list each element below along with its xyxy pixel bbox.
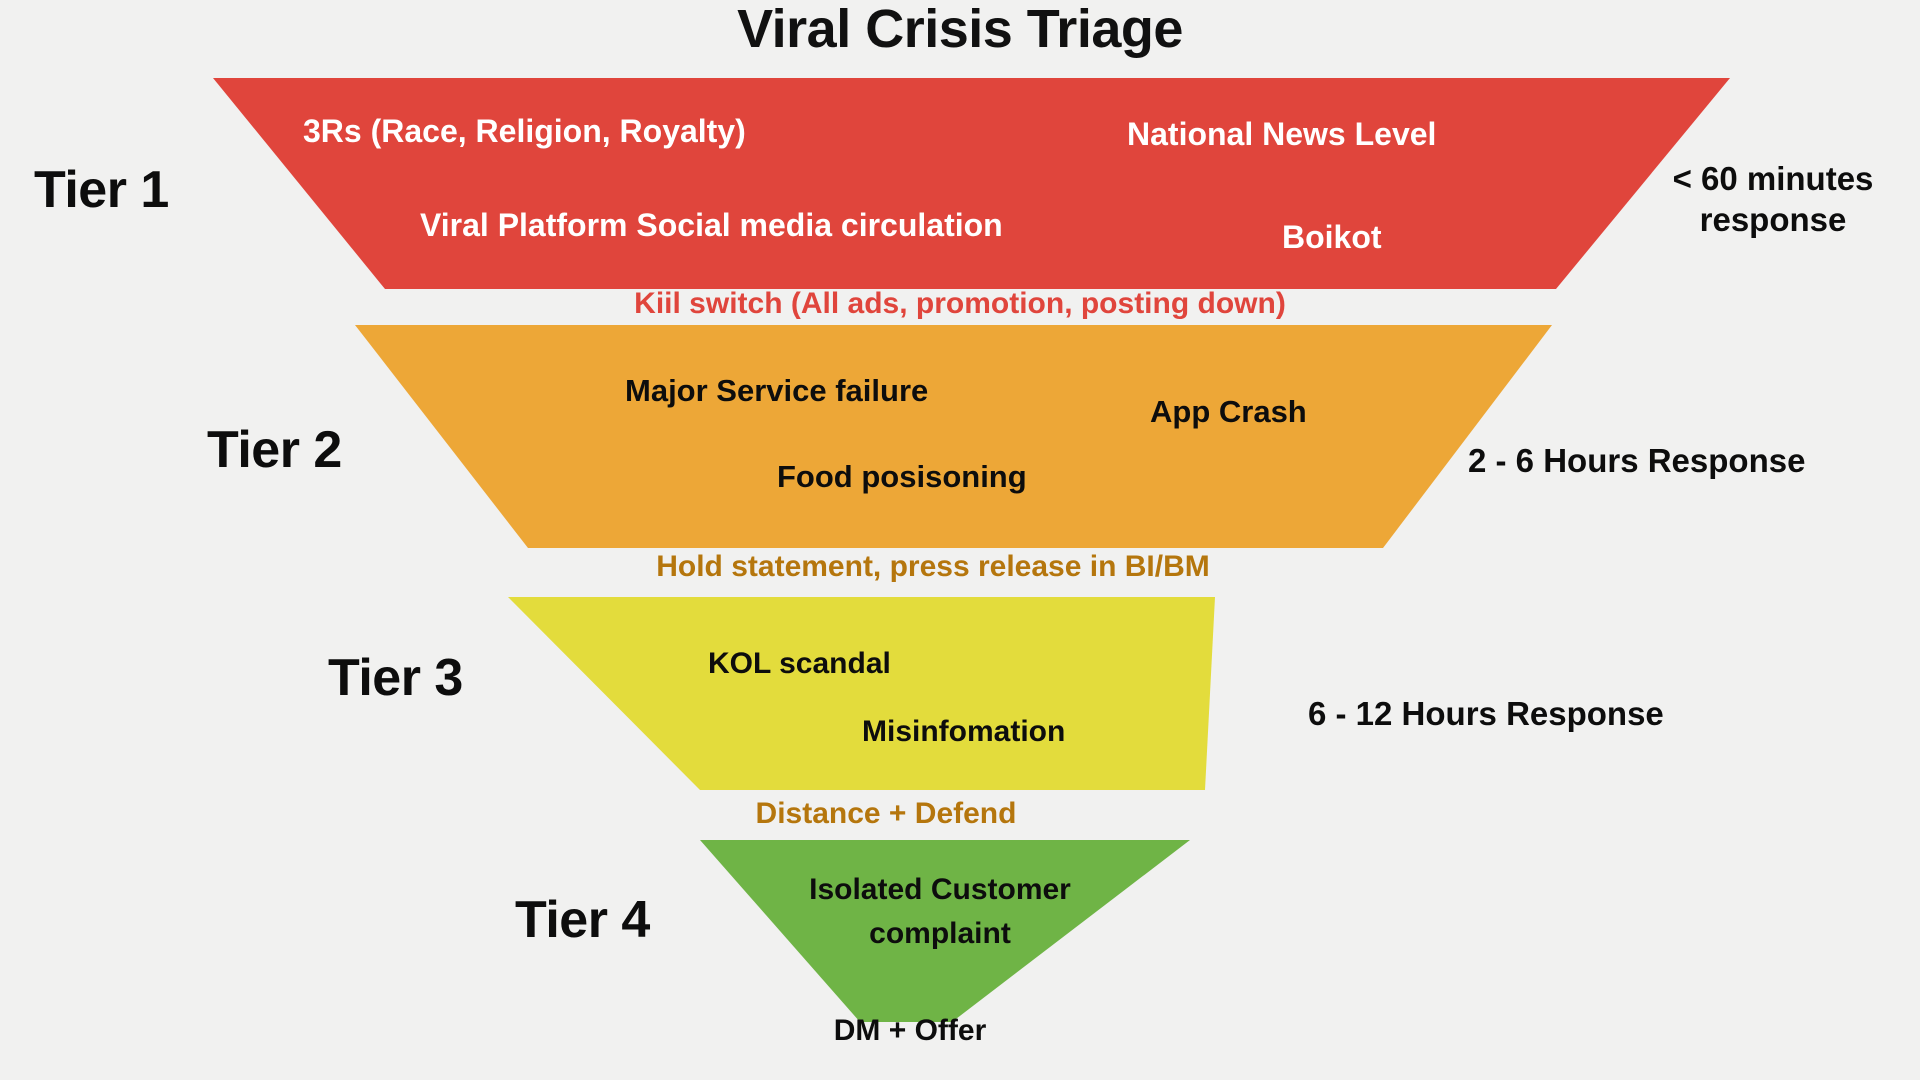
tier-1-item-3rs: 3Rs (Race, Religion, Royalty) — [303, 112, 746, 150]
tier-1-item-boikot: Boikot — [1282, 218, 1382, 256]
tier-2-item-app-crash: App Crash — [1150, 393, 1307, 430]
tier-1-label: Tier 1 — [34, 160, 169, 220]
tier-2-label: Tier 2 — [207, 420, 342, 480]
tier-3-sla-label: 6 - 12 Hours Response — [1308, 693, 1664, 734]
tier-4-action-dm-offer: DM + Offer — [0, 1014, 1820, 1048]
tier-3-action-distance-defend: Distance + Defend — [0, 797, 1772, 831]
tier-1-item-national-news: National News Level — [1127, 115, 1436, 153]
tier-4-label: Tier 4 — [515, 890, 650, 950]
tier-3-item-misinformation: Misinfomation — [862, 714, 1065, 750]
tier1-shape — [213, 78, 1730, 289]
tier-2-item-service-failure: Major Service failure — [625, 372, 928, 409]
tier-1-action-kill-switch: Kiil switch (All ads, promotion, posting… — [0, 287, 1920, 321]
tier-2-item-food-poisoning: Food posisoning — [777, 458, 1027, 495]
tier-2-action-hold-statement: Hold statement, press release in BI/BM — [0, 550, 1866, 584]
tier-3-item-kol-scandal: KOL scandal — [708, 646, 891, 682]
tier2-shape — [355, 325, 1552, 548]
diagram-canvas: Viral Crisis Triage Tier 1 3Rs (Race, Re… — [0, 0, 1920, 1080]
tier-2-sla-label: 2 - 6 Hours Response — [1468, 440, 1805, 481]
tier3-shape — [508, 597, 1215, 790]
page-title: Viral Crisis Triage — [0, 0, 1920, 60]
tier-1-item-viral-platform: Viral Platform Social media circulation — [420, 206, 1003, 244]
tier-4-item-isolated-complaint: Isolated Customer complaint — [775, 868, 1105, 955]
tier-3-label: Tier 3 — [328, 648, 463, 708]
tier-1-sla-label: < 60 minutes response — [1638, 158, 1908, 241]
